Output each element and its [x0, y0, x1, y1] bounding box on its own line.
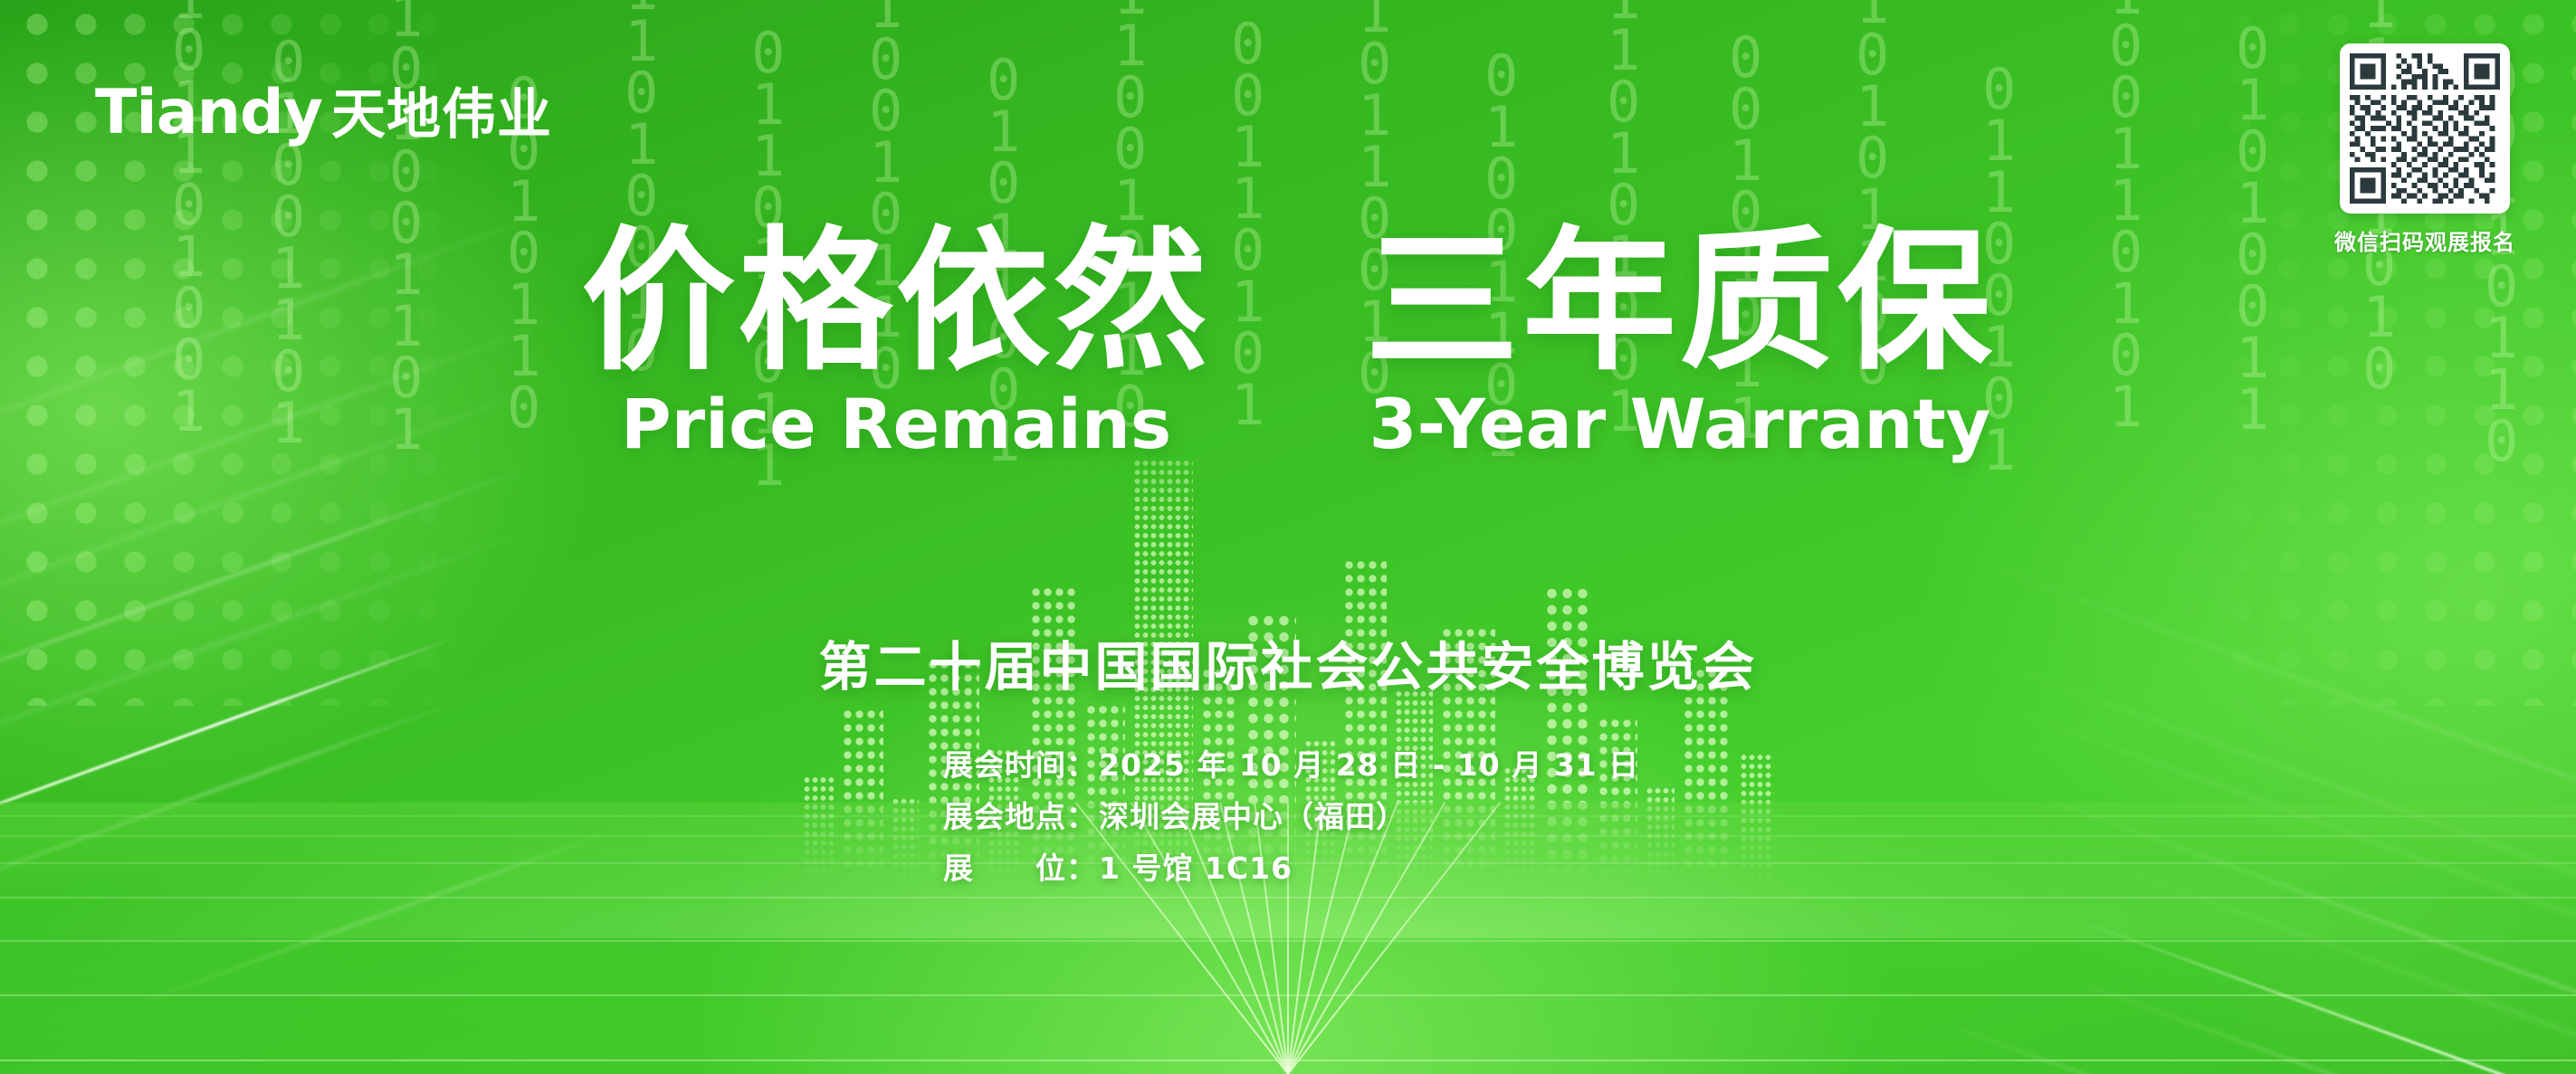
- light-streak-left: [109, 828, 619, 1015]
- light-streak-left: [0, 462, 542, 780]
- event-detail-label: 展会时间：: [943, 742, 1099, 788]
- event-detail-row: 展 位：1 号馆 1C16: [943, 845, 1639, 891]
- floor-grid-hline: [0, 897, 2576, 898]
- floor-grid-hline: [0, 1060, 2576, 1061]
- exhibition-banner: 1 0 1 1 0 1 0 0 10 1 0 0 1 1 0 11 0 1 0 …: [0, 0, 2576, 1074]
- brand-logo-cn: 天地伟业: [331, 71, 552, 149]
- light-streak-left: [0, 694, 477, 968]
- skyline-building: [892, 797, 919, 884]
- skyline-building: [803, 775, 834, 884]
- headline-right-en: 3-Year Warranty: [1369, 386, 1991, 462]
- light-streak-right: [1982, 699, 2576, 1022]
- event-detail-value: 2025 年 10 月 28 日 - 10 月 31 日: [1099, 742, 1639, 788]
- event-title: 第二十届中国国际社会公共安全博览会: [0, 624, 2576, 700]
- headline-left-cn: 价格依然: [581, 224, 1211, 381]
- event-detail-label: 展会地点：: [943, 794, 1099, 840]
- light-streak-right: [2037, 966, 2576, 1074]
- light-streak-right: [2063, 914, 2576, 1074]
- light-streak-right: [1919, 1013, 2429, 1074]
- floor-grid-hline: [0, 994, 2576, 996]
- event-detail-value: 1 号馆 1C16: [1099, 845, 1293, 891]
- event-detail-row: 展会地点：深圳会展中心（福田）: [943, 794, 1639, 840]
- skyline-building: [842, 708, 883, 884]
- headline-left: 价格依然 Price Remains: [581, 224, 1211, 462]
- light-streak-right: [1991, 778, 2576, 1074]
- event-detail-row: 展会时间：2025 年 10 月 28 日 - 10 月 31 日: [943, 742, 1639, 788]
- floor-grid-hline: [0, 940, 2576, 942]
- skyline-building: [1646, 786, 1674, 884]
- event-detail-value: 深圳会展中心（福田）: [1099, 794, 1407, 840]
- skyline-building: [1740, 753, 1774, 884]
- light-streak-right: [2018, 831, 2576, 1074]
- event-details: 展会时间：2025 年 10 月 28 日 - 10 月 31 日展会地点：深圳…: [943, 742, 1639, 891]
- headline-left-en: Price Remains: [621, 386, 1171, 462]
- light-streak-right: [1928, 543, 2576, 891]
- qr-caption: 微信扫码观展报名: [2334, 224, 2515, 256]
- headline-group: 价格依然 Price Remains 三年质保 3-Year Warranty: [0, 224, 2576, 462]
- brand-logo[interactable]: Tiandy 天地伟业: [95, 71, 552, 149]
- qr-code-icon[interactable]: [2340, 43, 2510, 214]
- headline-right: 三年质保 3-Year Warranty: [1365, 224, 1995, 462]
- qr-registration-block[interactable]: 微信扫码观展报名: [2321, 43, 2529, 256]
- event-detail-label: 展 位：: [943, 845, 1099, 891]
- headline-right-cn: 三年质保: [1365, 224, 1995, 381]
- brand-logo-en: Tiandy: [95, 77, 322, 148]
